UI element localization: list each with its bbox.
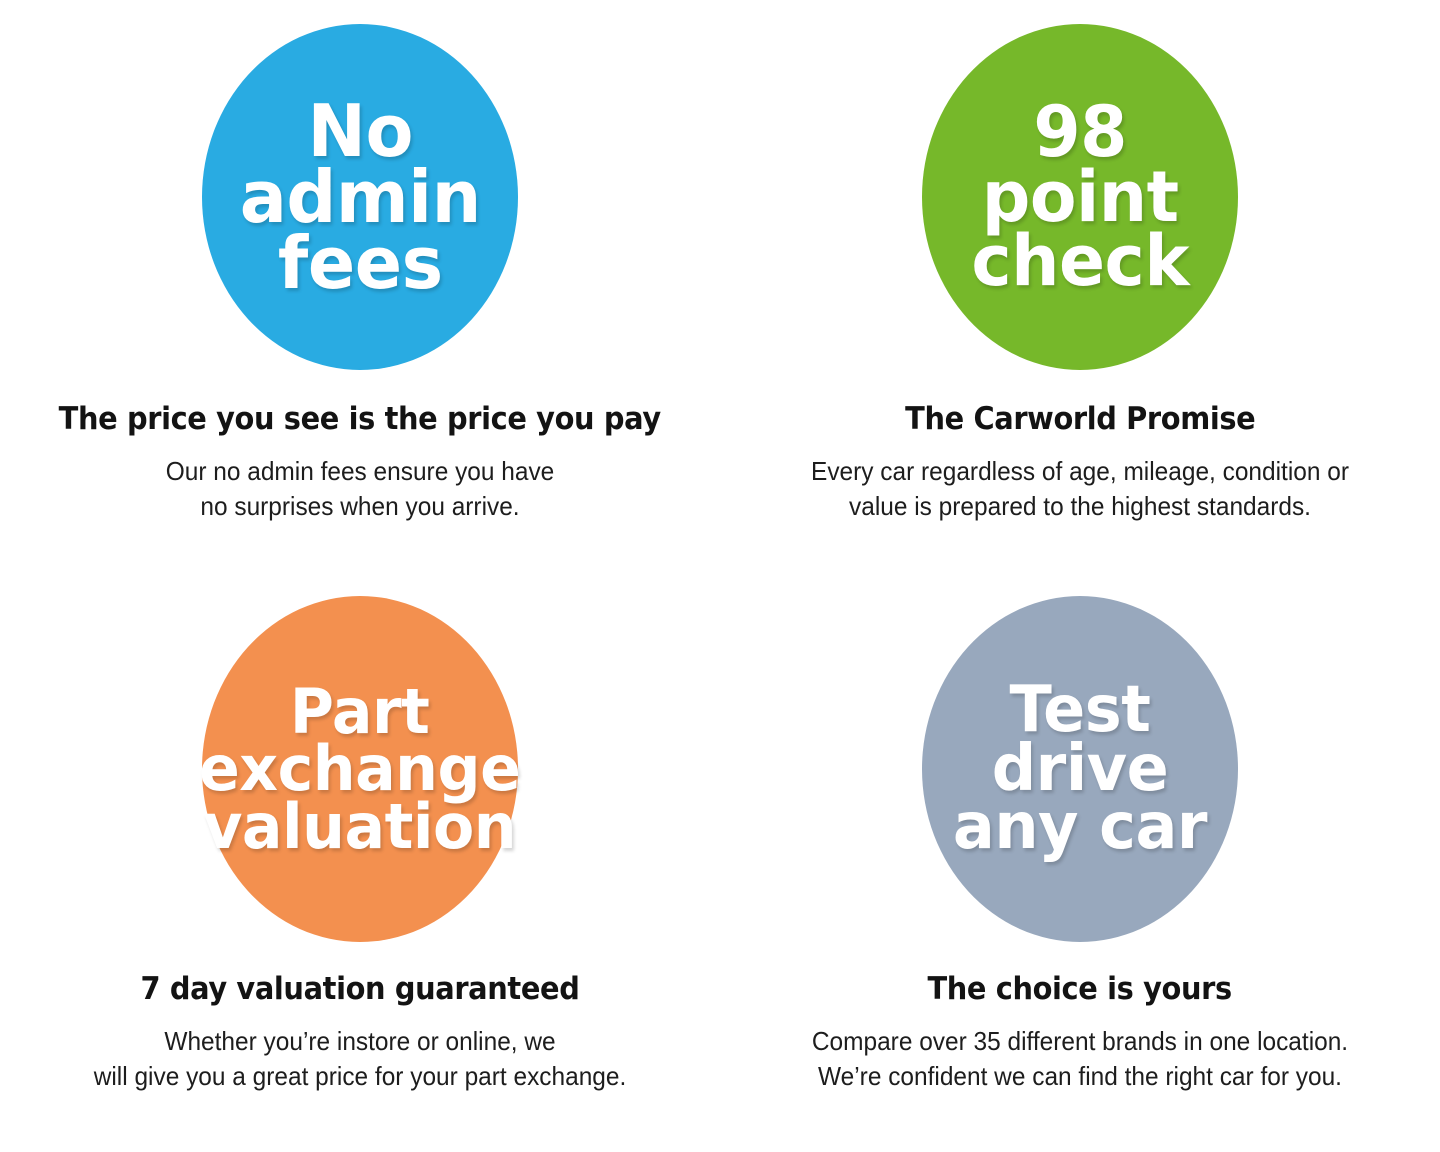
usp-card-test-drive-any-car: Test drive any car The choice is yours C… bbox=[720, 576, 1440, 1152]
badge-circle-no-admin-fees: No admin fees bbox=[202, 24, 518, 370]
usp-body-part-exchange-valuation: Whether you’re instore or online, we wil… bbox=[31, 1024, 689, 1093]
usp-heading-test-drive-any-car: The choice is yours bbox=[928, 972, 1232, 1006]
usp-body-no-admin-fees: Our no admin fees ensure you have no sur… bbox=[97, 454, 623, 523]
badge-circle-part-exchange-valuation: Part exchange valuation bbox=[202, 596, 518, 942]
usp-body-test-drive-any-car: Compare over 35 different brands in one … bbox=[751, 1024, 1409, 1093]
usp-card-98-point-check: 98 point check The Carworld Promise Ever… bbox=[720, 0, 1440, 576]
badge-circle-test-drive-any-car: Test drive any car bbox=[922, 596, 1238, 942]
badge-label-part-exchange-valuation: Part exchange valuation bbox=[199, 683, 520, 854]
usp-card-part-exchange-valuation: Part exchange valuation 7 day valuation … bbox=[0, 576, 720, 1152]
badge-label-no-admin-fees: No admin fees bbox=[239, 98, 480, 297]
usp-body-98-point-check: Every car regardless of age, mileage, co… bbox=[751, 454, 1409, 523]
badge-label-test-drive-any-car: Test drive any car bbox=[953, 681, 1207, 858]
usp-grid: No admin fees The price you see is the p… bbox=[0, 0, 1440, 1152]
badge-label-98-point-check: 98 point check bbox=[971, 100, 1189, 293]
badge-circle-98-point-check: 98 point check bbox=[922, 24, 1238, 370]
usp-heading-part-exchange-valuation: 7 day valuation guaranteed bbox=[141, 972, 580, 1006]
usp-heading-no-admin-fees: The price you see is the price you pay bbox=[59, 402, 661, 436]
usp-card-no-admin-fees: No admin fees The price you see is the p… bbox=[0, 0, 720, 576]
usp-heading-98-point-check: The Carworld Promise bbox=[905, 402, 1255, 436]
